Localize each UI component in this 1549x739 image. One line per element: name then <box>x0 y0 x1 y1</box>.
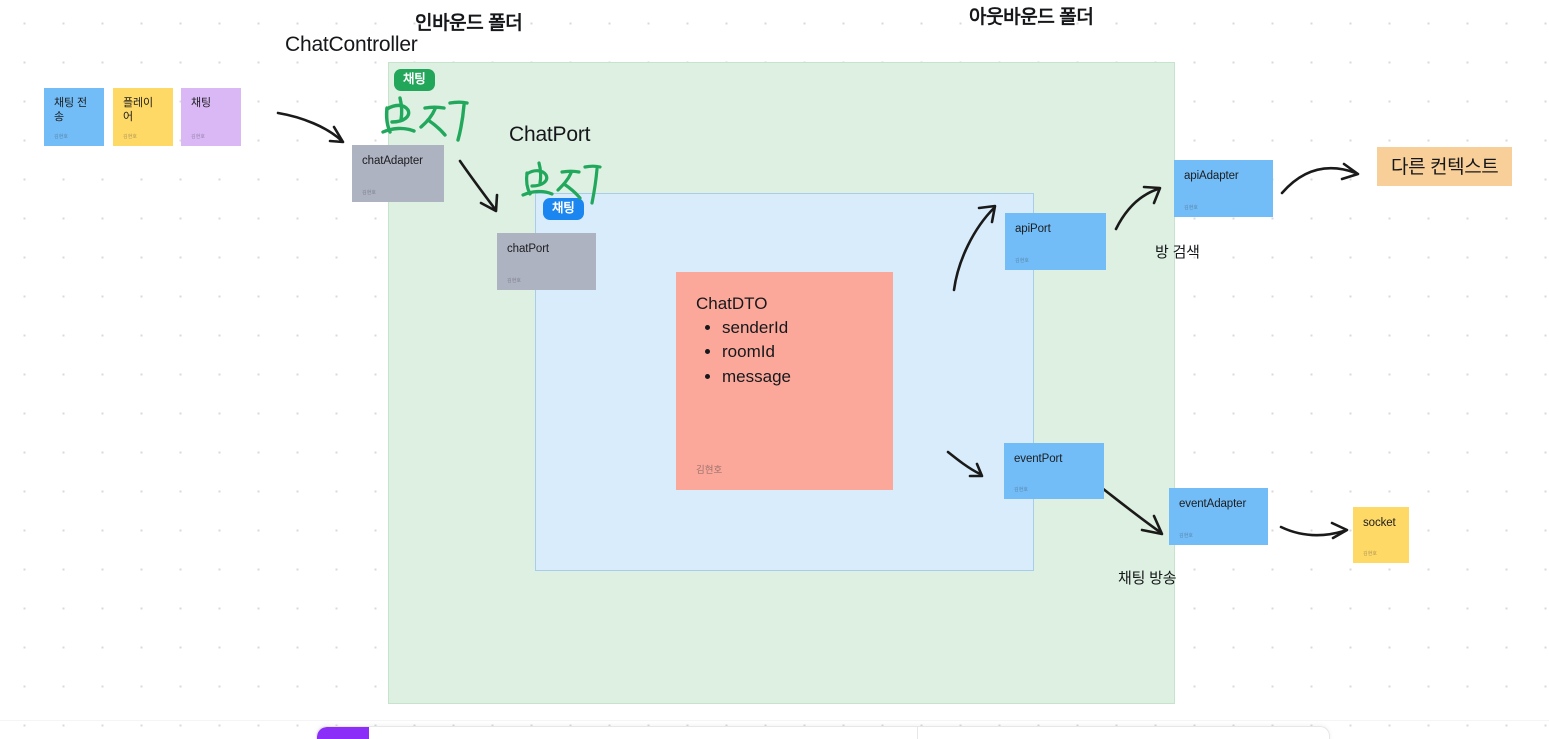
note-title: 채팅 <box>191 97 231 111</box>
note-title: eventAdapter <box>1179 497 1258 511</box>
note-title: apiAdapter <box>1184 169 1263 183</box>
sticky-note-chat-adapter[interactable]: chatAdapter 김현호 <box>352 145 444 202</box>
sticky-note-chat[interactable]: 채팅 김현호 <box>181 88 241 146</box>
note-author: 김현호 <box>362 191 434 196</box>
sticky-note-socket[interactable]: socket 김현호 <box>1353 507 1409 563</box>
tag-pill-inbound[interactable]: 채팅 <box>394 69 435 91</box>
note-title: eventPort <box>1014 452 1094 466</box>
label-outbound-folder[interactable]: 아웃바운드 폴더 <box>969 2 1093 29</box>
toolbar-divider <box>917 727 918 739</box>
sticky-note-chat-send[interactable]: 채팅 전송 김현호 <box>44 88 104 146</box>
sticky-note-chat-port[interactable]: chatPort 김현호 <box>497 233 596 290</box>
dto-field: senderId <box>722 318 871 338</box>
label-room-search[interactable]: 방 검색 <box>1155 241 1200 262</box>
label-chat-port[interactable]: ChatPort <box>509 123 590 147</box>
note-author: 김현호 <box>1363 552 1399 557</box>
note-title: chatPort <box>507 242 586 256</box>
whiteboard-canvas[interactable]: ChatController 인바운드 폴더 아웃바운드 폴더 ChatPort… <box>0 0 1549 739</box>
sticky-note-api-adapter[interactable]: apiAdapter 김현호 <box>1174 160 1273 217</box>
sticky-note-chat-dto[interactable]: ChatDTO senderId roomId message 김현호 <box>676 272 893 490</box>
label-chat-broadcast[interactable]: 채팅 방송 <box>1118 567 1176 588</box>
note-title: 채팅 전송 <box>54 97 94 125</box>
note-author: 김현호 <box>1184 206 1263 211</box>
sticky-note-event-port[interactable]: eventPort 김현호 <box>1004 443 1104 499</box>
bottom-toolbar[interactable] <box>316 726 1330 739</box>
chip-other-context[interactable]: 다른 컨텍스트 <box>1377 147 1512 186</box>
note-title: apiPort <box>1015 222 1096 236</box>
note-author: 김현호 <box>507 279 586 284</box>
label-chat-controller[interactable]: ChatController <box>285 33 418 57</box>
canvas-bottom-hairline <box>0 720 1549 721</box>
dto-field: roomId <box>722 342 871 362</box>
tag-pill-chatport[interactable]: 채팅 <box>543 198 584 220</box>
note-author: 김현호 <box>123 135 163 140</box>
tool-active-indicator[interactable] <box>317 727 369 739</box>
note-author: 김현호 <box>54 135 94 140</box>
arrow-eventadapter-to-socket <box>1278 518 1356 546</box>
note-author: 김현호 <box>1014 488 1094 493</box>
sticky-note-event-adapter[interactable]: eventAdapter 김현호 <box>1169 488 1268 545</box>
note-author: 김현호 <box>1015 259 1096 264</box>
note-title: socket <box>1363 516 1399 530</box>
sticky-note-api-port[interactable]: apiPort 김현호 <box>1005 213 1106 270</box>
dto-field: message <box>722 367 871 387</box>
dto-field-list: senderId roomId message <box>696 318 871 387</box>
note-author: 김현호 <box>191 135 231 140</box>
dto-author: 김현호 <box>696 462 871 476</box>
note-title: 플레이어 <box>123 97 163 125</box>
arrow-apiadapter-to-other-context <box>1278 158 1366 198</box>
note-author: 김현호 <box>1179 534 1258 539</box>
sticky-note-player[interactable]: 플레이어 김현호 <box>113 88 173 146</box>
label-inbound-folder[interactable]: 인바운드 폴더 <box>415 8 522 35</box>
note-title: chatAdapter <box>362 154 434 168</box>
dto-title: ChatDTO <box>696 294 871 314</box>
